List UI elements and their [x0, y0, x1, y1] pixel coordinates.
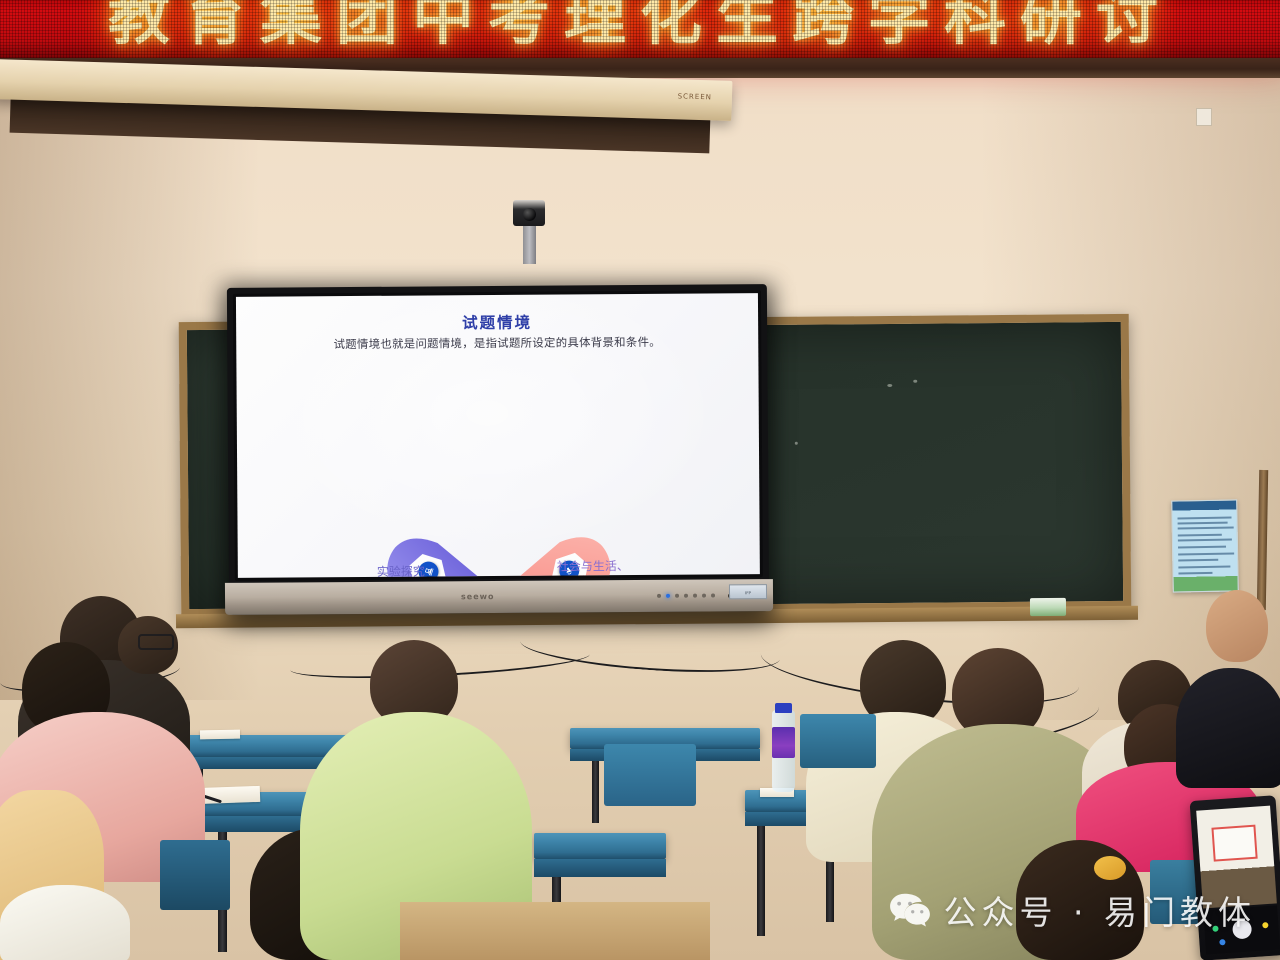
presentation-slide: 试题情境 试题情境也就是问题情境，是指试题所设定的具体背景和条件。 — [236, 293, 760, 578]
status-dot-yellow — [1262, 922, 1268, 928]
desk-leg — [592, 761, 599, 823]
chair-back — [604, 744, 696, 806]
classroom-photo-scene: 教育集团中考理化生跨学科研讨 SCREEN — [0, 0, 1280, 960]
petal-label-experiment: 实验探究 — [377, 565, 425, 578]
status-dot-blue — [1219, 939, 1225, 945]
petal-label-society-line2: 人体健康 — [557, 574, 629, 578]
bottle-label — [772, 727, 795, 758]
display-spec-tag: IFP — [729, 584, 767, 599]
petal-diagram: 实验探究 社会与生活、 人体健康 化工合成、 工业生产 中国优秀传 统文化 — [348, 467, 650, 578]
chalk-box-icon — [1030, 598, 1066, 616]
bottle-cap — [775, 703, 792, 713]
wall-poster — [1171, 499, 1239, 592]
desk-leg — [757, 826, 765, 936]
display-bezel: 试题情境 试题情境也就是问题情境，是指试题所设定的具体背景和条件。 — [233, 290, 763, 581]
slide-title: 试题情境 — [236, 309, 758, 335]
display-indicator-leds — [657, 593, 715, 597]
tablet-device[interactable] — [1190, 795, 1280, 960]
chair-back — [160, 840, 230, 910]
slide-subtitle: 试题情境也就是问题情境，是指试题所设定的具体背景和条件。 — [236, 333, 758, 353]
display-bottom-bezel: seewo IFP — [225, 579, 773, 615]
led-banner: 教育集团中考理化生跨学科研讨 — [0, 0, 1280, 58]
interactive-flat-panel[interactable]: 试题情境 试题情境也就是问题情境，是指试题所设定的具体背景和条件。 — [227, 284, 769, 615]
desk-front-front-right — [534, 859, 666, 877]
chair-back — [800, 714, 876, 768]
camera-lens-icon — [523, 208, 536, 221]
petal-label-society-line1: 社会与生活、 — [557, 559, 629, 575]
paper-sheet — [200, 730, 240, 740]
eyeglasses-icon — [138, 634, 174, 650]
display-brand-label: seewo — [461, 592, 495, 601]
petal-label-society: 社会与生活、 人体健康 — [557, 559, 629, 578]
hair-clip-icon — [1094, 856, 1126, 880]
wechat-icon — [888, 891, 932, 929]
camera-mount-arm — [523, 222, 536, 264]
desk-row-front-right — [534, 833, 666, 859]
wall-socket — [1196, 108, 1212, 126]
watermark-text: 公众号 · 易门教体 — [944, 886, 1256, 934]
floor — [400, 902, 710, 960]
focus-box-icon — [1211, 825, 1257, 862]
watermark: 公众号 · 易门教体 — [888, 886, 1256, 934]
screen-brand-label: SCREEN — [678, 92, 713, 101]
led-banner-text: 教育集团中考理化生跨学科研讨 — [108, 0, 1172, 56]
